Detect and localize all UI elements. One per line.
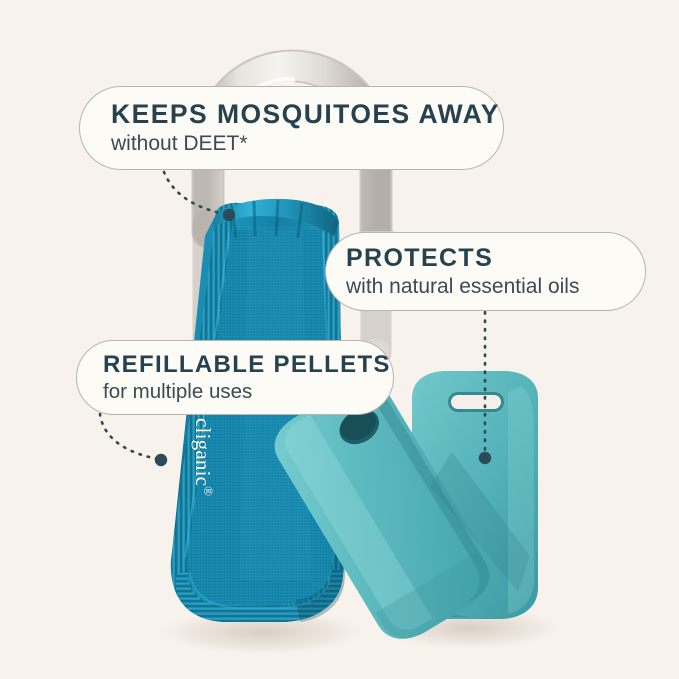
brand-logo-text: cliganic [191,418,215,486]
callout-subtext: with natural essential oils [346,275,645,298]
callout-heading: REFILLABLE PELLETS [103,352,393,377]
callout-subtext: for multiple uses [103,381,393,404]
callout-refillable-pellets: REFILLABLE PELLETS for multiple uses [76,340,394,415]
brand-logo: cliganic® [190,418,216,496]
brand-trademark: ® [201,486,216,496]
product-infographic: cliganic® KEEPS MOSQUITOES AWAY without … [0,0,679,679]
callout-keeps-mosquitoes-away: KEEPS MOSQUITOES AWAY without DEET* [79,86,504,170]
callout-heading: KEEPS MOSQUITOES AWAY [111,101,503,129]
callout-heading: PROTECTS [346,245,645,271]
callout-subtext: without DEET* [111,132,503,155]
callout-protects: PROTECTS with natural essential oils [325,232,646,311]
